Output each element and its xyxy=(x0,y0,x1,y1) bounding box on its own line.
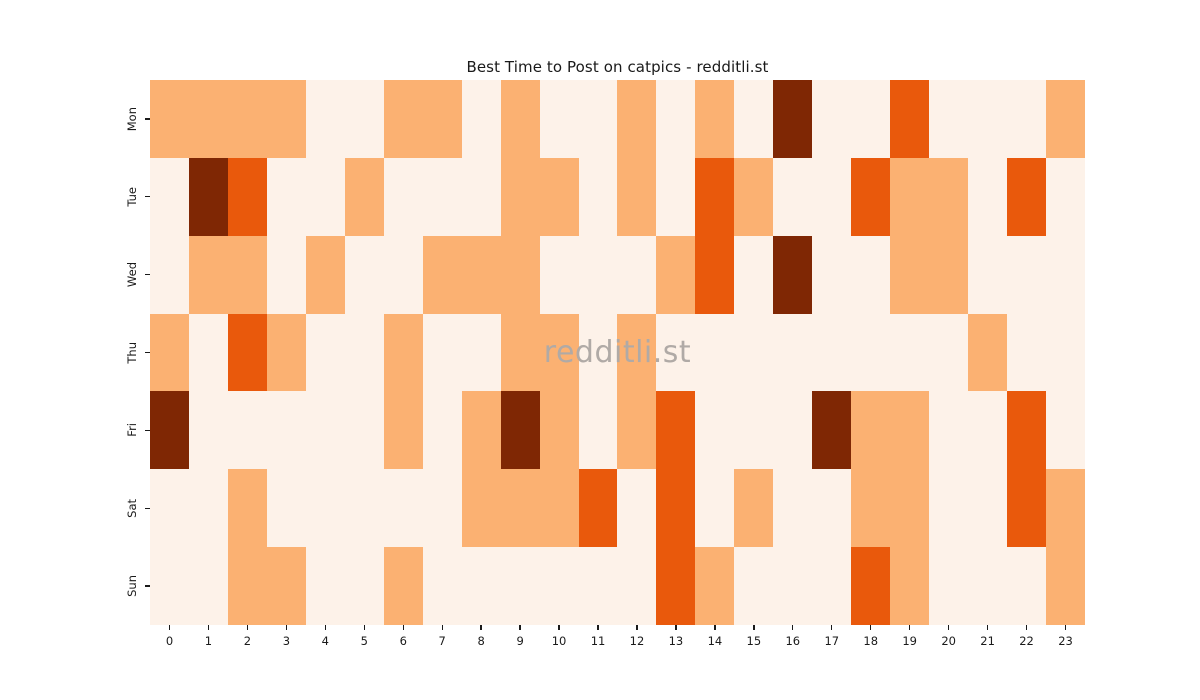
heatmap-cell xyxy=(384,391,423,469)
x-axis-label: 3 xyxy=(283,634,290,648)
heatmap-cell xyxy=(812,314,851,392)
y-axis-label: Thu xyxy=(125,342,139,364)
heatmap-cell xyxy=(579,469,618,547)
y-axis-label: Sun xyxy=(125,575,139,597)
y-axis-label: Mon xyxy=(125,107,139,131)
heatmap-cell xyxy=(189,314,228,392)
x-axis-tick-20: 20 xyxy=(929,625,968,648)
x-axis-tick-mark xyxy=(948,625,949,630)
heatmap-cell xyxy=(345,391,384,469)
y-axis-tick-wed: Wed xyxy=(0,236,150,314)
y-axis-tick-mon: Mon xyxy=(0,80,150,158)
heatmap-cell xyxy=(306,391,345,469)
x-axis-tick-21: 21 xyxy=(968,625,1007,648)
x-axis-tick-2: 2 xyxy=(228,625,267,648)
x-axis-tick-6: 6 xyxy=(384,625,423,648)
x-axis-tick-17: 17 xyxy=(812,625,851,648)
heatmap-cell xyxy=(423,391,462,469)
heatmap-cell xyxy=(734,469,773,547)
heatmap-cell xyxy=(617,391,656,469)
heatmap-cell xyxy=(345,158,384,236)
x-axis-tick-12: 12 xyxy=(618,625,657,648)
heatmap-cell xyxy=(890,469,929,547)
heatmap-cell xyxy=(384,236,423,314)
x-axis-tick-mark xyxy=(987,625,988,630)
heatmap-cell xyxy=(579,80,618,158)
heatmap-cell xyxy=(968,391,1007,469)
x-axis-label: 0 xyxy=(166,634,173,648)
x-axis-tick-10: 10 xyxy=(540,625,579,648)
y-axis-tick-fri: Fri xyxy=(0,391,150,469)
heatmap-cell xyxy=(267,314,306,392)
heatmap-cell xyxy=(1007,80,1046,158)
figure-canvas: Best Time to Post on catpics - redditli.… xyxy=(0,0,1200,700)
heatmap-cell xyxy=(1046,391,1085,469)
x-axis-label: 22 xyxy=(1019,634,1034,648)
heatmap-cell xyxy=(851,158,890,236)
heatmap-cell xyxy=(1007,391,1046,469)
heatmap-cell xyxy=(734,391,773,469)
heatmap-cell xyxy=(812,391,851,469)
x-axis-tick-18: 18 xyxy=(851,625,890,648)
heatmap-cell xyxy=(267,236,306,314)
x-axis-tick-mark xyxy=(480,625,481,630)
x-axis-tick-mark xyxy=(403,625,404,630)
heatmap-cell xyxy=(306,80,345,158)
x-axis-label: 14 xyxy=(708,634,723,648)
heatmap-cell xyxy=(656,236,695,314)
x-axis-tick-mark xyxy=(247,625,248,630)
heatmap-cell xyxy=(384,80,423,158)
x-axis-tick-13: 13 xyxy=(656,625,695,648)
x-axis-tick-mark xyxy=(714,625,715,630)
heatmap-cell xyxy=(462,80,501,158)
y-axis-tick-thu: Thu xyxy=(0,314,150,392)
heatmap-cell xyxy=(423,314,462,392)
heatmap-cell xyxy=(423,158,462,236)
y-axis-tick-sun: Sun xyxy=(0,547,150,625)
y-axis-label: Sat xyxy=(125,499,139,518)
heatmap-cell xyxy=(617,314,656,392)
heatmap-cell xyxy=(150,391,189,469)
x-axis-label: 8 xyxy=(477,634,484,648)
heatmap-cell xyxy=(968,547,1007,625)
heatmap-cell xyxy=(1046,80,1085,158)
heatmap-cell xyxy=(267,158,306,236)
heatmap-cell xyxy=(540,80,579,158)
heatmap-cell xyxy=(734,547,773,625)
x-axis-tick-0: 0 xyxy=(150,625,189,648)
x-axis-tick-19: 19 xyxy=(890,625,929,648)
heatmap-cell xyxy=(929,469,968,547)
heatmap-cell xyxy=(851,391,890,469)
x-axis-label: 23 xyxy=(1058,634,1073,648)
heatmap-cell xyxy=(540,158,579,236)
x-axis-tick-mark xyxy=(870,625,871,630)
heatmap-cell xyxy=(501,469,540,547)
heatmap-cell xyxy=(384,547,423,625)
heatmap-cell xyxy=(189,391,228,469)
heatmap-cell xyxy=(306,314,345,392)
x-axis-label: 13 xyxy=(669,634,684,648)
heatmap-cell xyxy=(656,547,695,625)
x-axis-label: 17 xyxy=(824,634,839,648)
heatmap-cell xyxy=(228,158,267,236)
heatmap-cell xyxy=(890,236,929,314)
heatmap-cell xyxy=(1046,547,1085,625)
heatmap-cell xyxy=(501,158,540,236)
heatmap-cell xyxy=(384,469,423,547)
heatmap-cell xyxy=(929,547,968,625)
y-axis-tick-sat: Sat xyxy=(0,469,150,547)
heatmap-cell xyxy=(929,314,968,392)
x-axis-tick-14: 14 xyxy=(695,625,734,648)
heatmap-cell xyxy=(345,547,384,625)
heatmap-cell xyxy=(462,391,501,469)
heatmap-grid xyxy=(150,80,1085,625)
x-axis-tick-mark xyxy=(169,625,170,630)
x-axis-tick-11: 11 xyxy=(579,625,618,648)
y-axis-label: Fri xyxy=(125,423,139,437)
heatmap-cell xyxy=(773,469,812,547)
heatmap-cell xyxy=(579,547,618,625)
heatmap-cell xyxy=(812,547,851,625)
heatmap-cell xyxy=(617,80,656,158)
x-axis-label: 6 xyxy=(400,634,407,648)
heatmap-cell xyxy=(189,236,228,314)
heatmap-cell xyxy=(695,314,734,392)
x-axis-tick-mark xyxy=(597,625,598,630)
heatmap-cell xyxy=(890,547,929,625)
heatmap-cell xyxy=(150,469,189,547)
x-axis-tick-mark xyxy=(1065,625,1066,630)
heatmap-cell xyxy=(656,469,695,547)
x-axis-label: 5 xyxy=(361,634,368,648)
heatmap-cell xyxy=(734,236,773,314)
x-axis-tick-15: 15 xyxy=(734,625,773,648)
heatmap-cell xyxy=(306,236,345,314)
x-axis-tick-mark xyxy=(286,625,287,630)
heatmap-cell xyxy=(579,314,618,392)
heatmap-cell xyxy=(579,236,618,314)
heatmap-cell xyxy=(773,158,812,236)
heatmap-cell xyxy=(501,547,540,625)
y-axis-label: Wed xyxy=(125,262,139,287)
heatmap-cell xyxy=(617,236,656,314)
heatmap-cell xyxy=(267,80,306,158)
x-axis-tick-mark xyxy=(442,625,443,630)
heatmap-cell xyxy=(968,80,1007,158)
heatmap-cell xyxy=(812,80,851,158)
x-axis-tick-mark xyxy=(831,625,832,630)
heatmap-cell xyxy=(423,80,462,158)
chart-title: Best Time to Post on catpics - redditli.… xyxy=(150,58,1085,76)
heatmap-cell xyxy=(968,236,1007,314)
heatmap-cell xyxy=(773,80,812,158)
heatmap-cell xyxy=(656,80,695,158)
heatmap-cell xyxy=(189,158,228,236)
heatmap-cell xyxy=(267,547,306,625)
heatmap-cell xyxy=(423,469,462,547)
heatmap-cell xyxy=(695,158,734,236)
x-axis-label: 2 xyxy=(244,634,251,648)
heatmap-cell xyxy=(734,80,773,158)
x-axis-tick-mark xyxy=(364,625,365,630)
heatmap-cell xyxy=(345,80,384,158)
x-axis-label: 15 xyxy=(747,634,762,648)
heatmap-cell xyxy=(150,158,189,236)
heatmap-cell xyxy=(617,469,656,547)
heatmap-cell xyxy=(929,236,968,314)
heatmap-cell xyxy=(306,158,345,236)
heatmap-cell xyxy=(462,469,501,547)
x-axis-tick-4: 4 xyxy=(306,625,345,648)
heatmap-cell xyxy=(656,158,695,236)
x-axis-tick-23: 23 xyxy=(1046,625,1085,648)
heatmap-cell xyxy=(1007,236,1046,314)
heatmap-cell xyxy=(695,469,734,547)
heatmap-cell xyxy=(734,158,773,236)
x-axis-tick-mark xyxy=(519,625,520,630)
x-axis-label: 10 xyxy=(552,634,567,648)
x-axis-tick-22: 22 xyxy=(1007,625,1046,648)
heatmap-cell xyxy=(812,469,851,547)
heatmap-cell xyxy=(890,80,929,158)
heatmap-cell xyxy=(384,158,423,236)
heatmap-cell xyxy=(890,158,929,236)
heatmap-cell xyxy=(228,469,267,547)
heatmap-cell xyxy=(345,236,384,314)
x-axis-tick-mark xyxy=(208,625,209,630)
heatmap-cell xyxy=(228,80,267,158)
x-axis-label: 20 xyxy=(941,634,956,648)
x-axis-tick-mark xyxy=(792,625,793,630)
heatmap-cell xyxy=(345,469,384,547)
x-axis-tick-7: 7 xyxy=(423,625,462,648)
x-axis-label: 12 xyxy=(630,634,645,648)
heatmap-cell xyxy=(617,158,656,236)
x-axis-label: 16 xyxy=(785,634,800,648)
heatmap-cell xyxy=(384,314,423,392)
heatmap-cell xyxy=(968,158,1007,236)
heatmap-cell xyxy=(851,469,890,547)
heatmap-cell xyxy=(851,80,890,158)
x-axis-tick-mark xyxy=(636,625,637,630)
heatmap-cell xyxy=(1046,236,1085,314)
heatmap-cell xyxy=(423,547,462,625)
heatmap-cell xyxy=(579,391,618,469)
heatmap-cell xyxy=(579,158,618,236)
heatmap-cell xyxy=(812,236,851,314)
x-axis-tick-mark xyxy=(558,625,559,630)
heatmap-cell xyxy=(306,547,345,625)
heatmap-cell xyxy=(540,469,579,547)
heatmap-cell xyxy=(501,236,540,314)
heatmap-cell xyxy=(228,391,267,469)
heatmap-cell xyxy=(617,547,656,625)
x-axis-label: 1 xyxy=(205,634,212,648)
heatmap-cell xyxy=(695,80,734,158)
y-axis: MonTueWedThuFriSatSun xyxy=(0,80,150,625)
heatmap-cell xyxy=(150,236,189,314)
x-axis-label: 4 xyxy=(322,634,329,648)
heatmap-cell xyxy=(306,469,345,547)
heatmap-cell xyxy=(228,236,267,314)
heatmap-cell xyxy=(890,391,929,469)
heatmap-cell xyxy=(851,314,890,392)
x-axis-label: 9 xyxy=(516,634,523,648)
heatmap-cell xyxy=(734,314,773,392)
heatmap-cell xyxy=(501,80,540,158)
heatmap-cell xyxy=(968,469,1007,547)
heatmap-cell xyxy=(267,469,306,547)
y-axis-label: Tue xyxy=(125,187,139,207)
heatmap-cell xyxy=(150,80,189,158)
heatmap-cell xyxy=(462,158,501,236)
x-axis-tick-mark xyxy=(325,625,326,630)
heatmap-cell xyxy=(773,391,812,469)
heatmap-cell xyxy=(501,314,540,392)
heatmap-cell xyxy=(929,80,968,158)
heatmap-cell xyxy=(189,80,228,158)
x-axis-tick-mark xyxy=(675,625,676,630)
x-axis: 01234567891011121314151617181920212223 xyxy=(150,625,1085,665)
x-axis-label: 19 xyxy=(902,634,917,648)
heatmap-cell xyxy=(929,158,968,236)
heatmap-cell xyxy=(851,236,890,314)
heatmap-cell xyxy=(423,236,462,314)
x-axis-label: 18 xyxy=(863,634,878,648)
heatmap-cell xyxy=(1007,547,1046,625)
heatmap-cell xyxy=(1007,469,1046,547)
heatmap-cell xyxy=(540,314,579,392)
x-axis-tick-mark xyxy=(909,625,910,630)
x-axis-tick-mark xyxy=(1026,625,1027,630)
heatmap-cell xyxy=(773,236,812,314)
x-axis-tick-3: 3 xyxy=(267,625,306,648)
heatmap-cell xyxy=(189,547,228,625)
heatmap-cell xyxy=(228,547,267,625)
heatmap-cell xyxy=(150,314,189,392)
heatmap-cell xyxy=(540,547,579,625)
x-axis-tick-9: 9 xyxy=(501,625,540,648)
heatmap-cell xyxy=(540,236,579,314)
heatmap-cell xyxy=(150,547,189,625)
x-axis-tick-1: 1 xyxy=(189,625,228,648)
x-axis-tick-16: 16 xyxy=(773,625,812,648)
x-axis-tick-mark xyxy=(753,625,754,630)
heatmap-cell xyxy=(1046,469,1085,547)
heatmap-cell xyxy=(929,391,968,469)
heatmap-cell xyxy=(773,314,812,392)
heatmap-cell xyxy=(345,314,384,392)
heatmap-cell xyxy=(540,391,579,469)
heatmap-cell xyxy=(851,547,890,625)
x-axis-label: 7 xyxy=(439,634,446,648)
y-axis-tick-tue: Tue xyxy=(0,158,150,236)
heatmap-cell xyxy=(267,391,306,469)
heatmap-plot-area: redditli.st xyxy=(150,80,1085,625)
x-axis-tick-8: 8 xyxy=(462,625,501,648)
heatmap-cell xyxy=(1046,314,1085,392)
heatmap-cell xyxy=(228,314,267,392)
heatmap-cell xyxy=(462,236,501,314)
heatmap-cell xyxy=(1046,158,1085,236)
heatmap-cell xyxy=(890,314,929,392)
x-axis-label: 21 xyxy=(980,634,995,648)
heatmap-cell xyxy=(656,391,695,469)
heatmap-cell xyxy=(812,158,851,236)
heatmap-cell xyxy=(695,547,734,625)
heatmap-cell xyxy=(501,391,540,469)
x-axis-tick-5: 5 xyxy=(345,625,384,648)
heatmap-cell xyxy=(773,547,812,625)
x-axis-label: 11 xyxy=(591,634,606,648)
heatmap-cell xyxy=(462,547,501,625)
heatmap-cell xyxy=(695,391,734,469)
heatmap-cell xyxy=(1007,314,1046,392)
heatmap-cell xyxy=(968,314,1007,392)
heatmap-cell xyxy=(1007,158,1046,236)
heatmap-cell xyxy=(656,314,695,392)
heatmap-cell xyxy=(189,469,228,547)
heatmap-cell xyxy=(695,236,734,314)
heatmap-cell xyxy=(462,314,501,392)
